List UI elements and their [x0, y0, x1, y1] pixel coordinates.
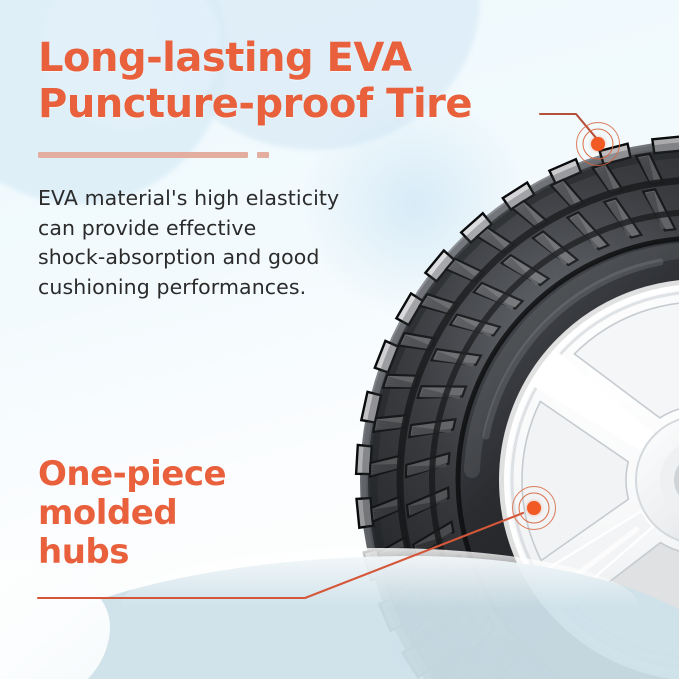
body-copy-tire: EVA material's high elasticity can provi… [38, 184, 398, 303]
headline-divider [38, 152, 269, 158]
headline-hubs: One-piece molded hubs [38, 455, 226, 571]
divider-dash [257, 152, 269, 158]
marker-dot [527, 501, 541, 515]
divider-bar [38, 152, 248, 158]
hub-spokes [535, 294, 679, 666]
headline-tire: Long-lasting EVA Puncture-proof Tire [38, 36, 472, 127]
hub-spoke-windows [522, 302, 679, 658]
marker-dot [591, 137, 605, 151]
infographic-canvas: Long-lasting EVA Puncture-proof Tire EVA… [0, 0, 679, 679]
callout-marker-hub[interactable] [512, 486, 556, 530]
callout-marker-tire[interactable] [576, 122, 620, 166]
background-pool-notch [0, 560, 110, 679]
tire-shoulder-lugs [356, 136, 679, 679]
background-pool-blob [0, 556, 679, 679]
